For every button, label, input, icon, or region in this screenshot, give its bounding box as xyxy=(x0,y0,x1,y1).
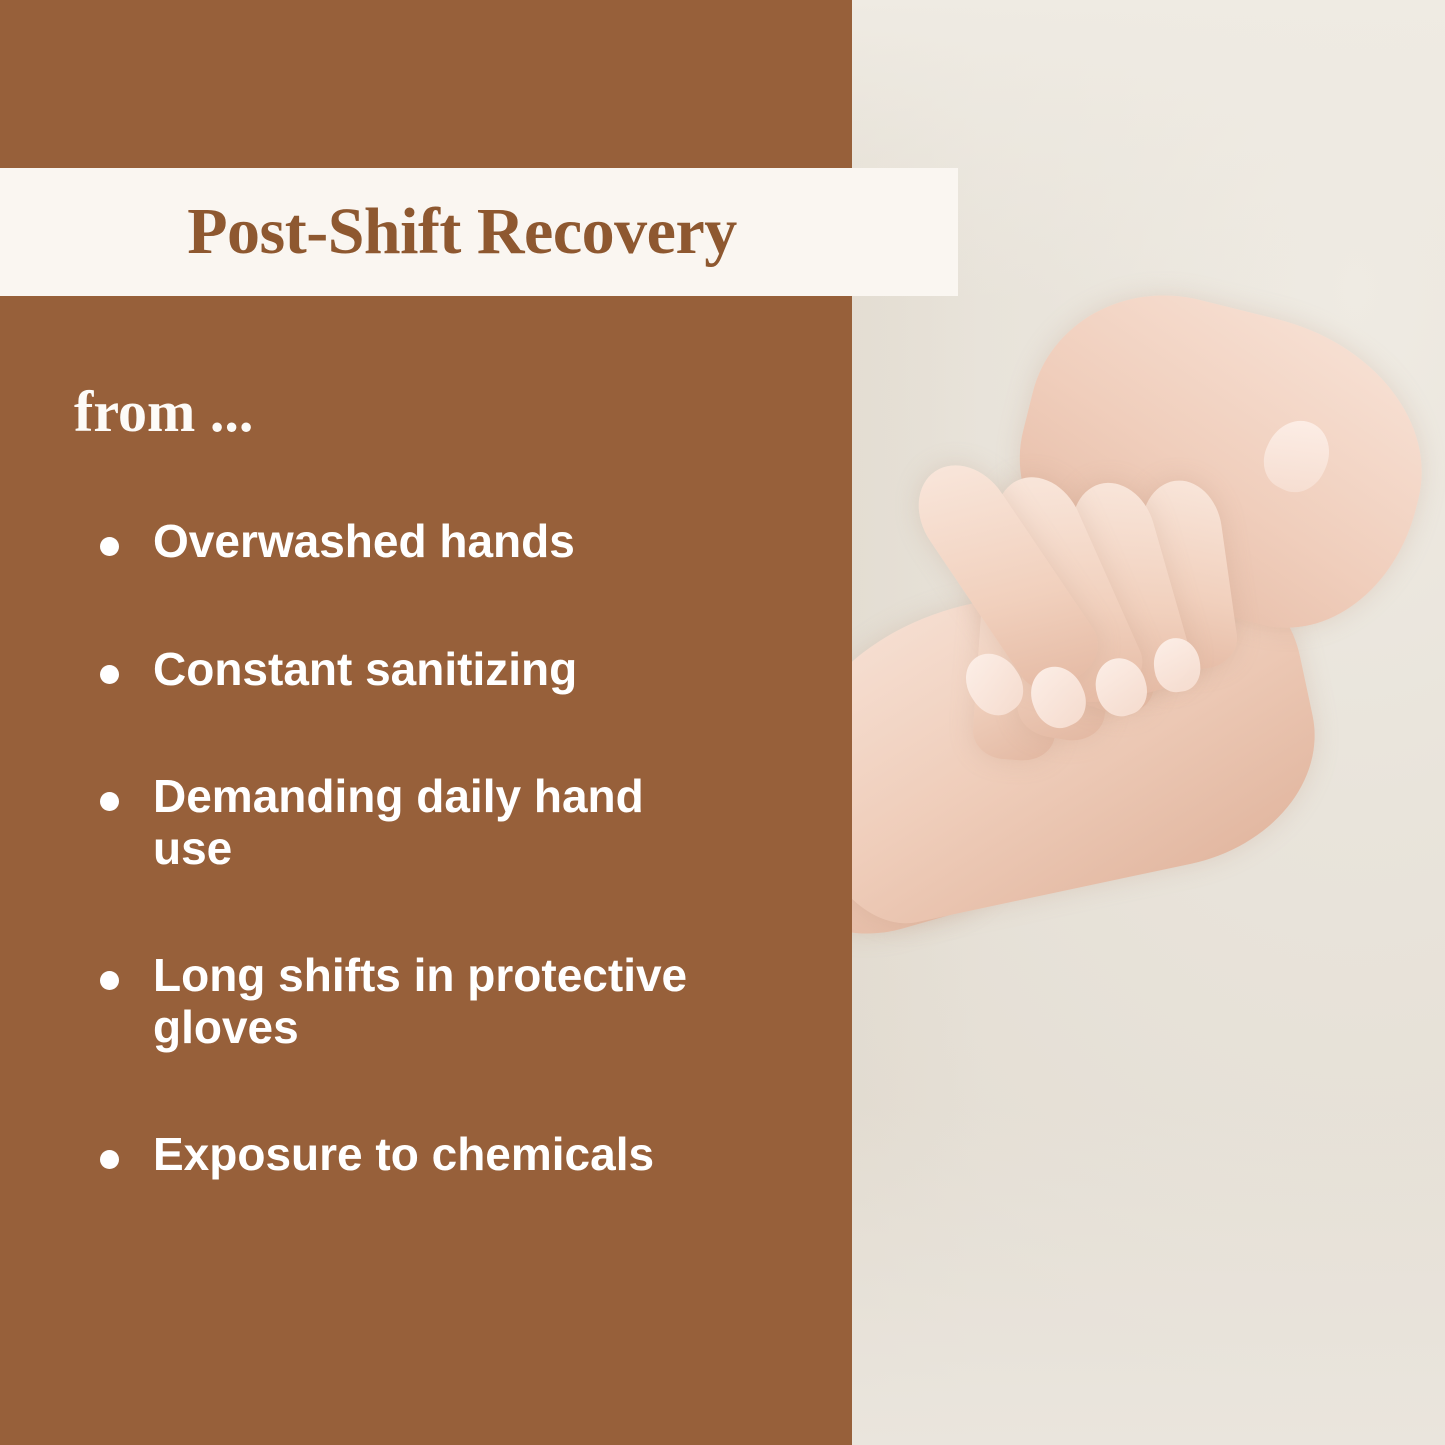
concerns-list: Overwashed hands Constant sanitizing Dem… xyxy=(100,516,760,1181)
hands-illustration xyxy=(852,280,1445,1100)
list-item-label: Long shifts in protective gloves xyxy=(153,950,733,1053)
list-item-label: Demanding daily hand use xyxy=(153,771,733,874)
bullet-dot-icon xyxy=(100,792,119,811)
list-item: Demanding daily hand use xyxy=(100,771,760,874)
bullet-dot-icon xyxy=(100,537,119,556)
bullet-dot-icon xyxy=(100,971,119,990)
product-infographic: Post-Shift Recovery from ... Overwashed … xyxy=(0,0,1445,1445)
list-item-label: Exposure to chemicals xyxy=(153,1129,654,1181)
list-item: Long shifts in protective gloves xyxy=(100,950,760,1053)
page-title: Post-Shift Recovery xyxy=(187,194,771,270)
title-band: Post-Shift Recovery xyxy=(0,168,958,296)
bullet-dot-icon xyxy=(100,1150,119,1169)
bullet-dot-icon xyxy=(100,665,119,684)
list-item-label: Constant sanitizing xyxy=(153,644,577,696)
list-item: Constant sanitizing xyxy=(100,644,760,696)
list-item: Exposure to chemicals xyxy=(100,1129,760,1181)
photo-bottom-fade xyxy=(852,1105,1445,1445)
subhead: from ... xyxy=(74,378,253,445)
list-item-label: Overwashed hands xyxy=(153,516,575,568)
list-item: Overwashed hands xyxy=(100,516,760,568)
